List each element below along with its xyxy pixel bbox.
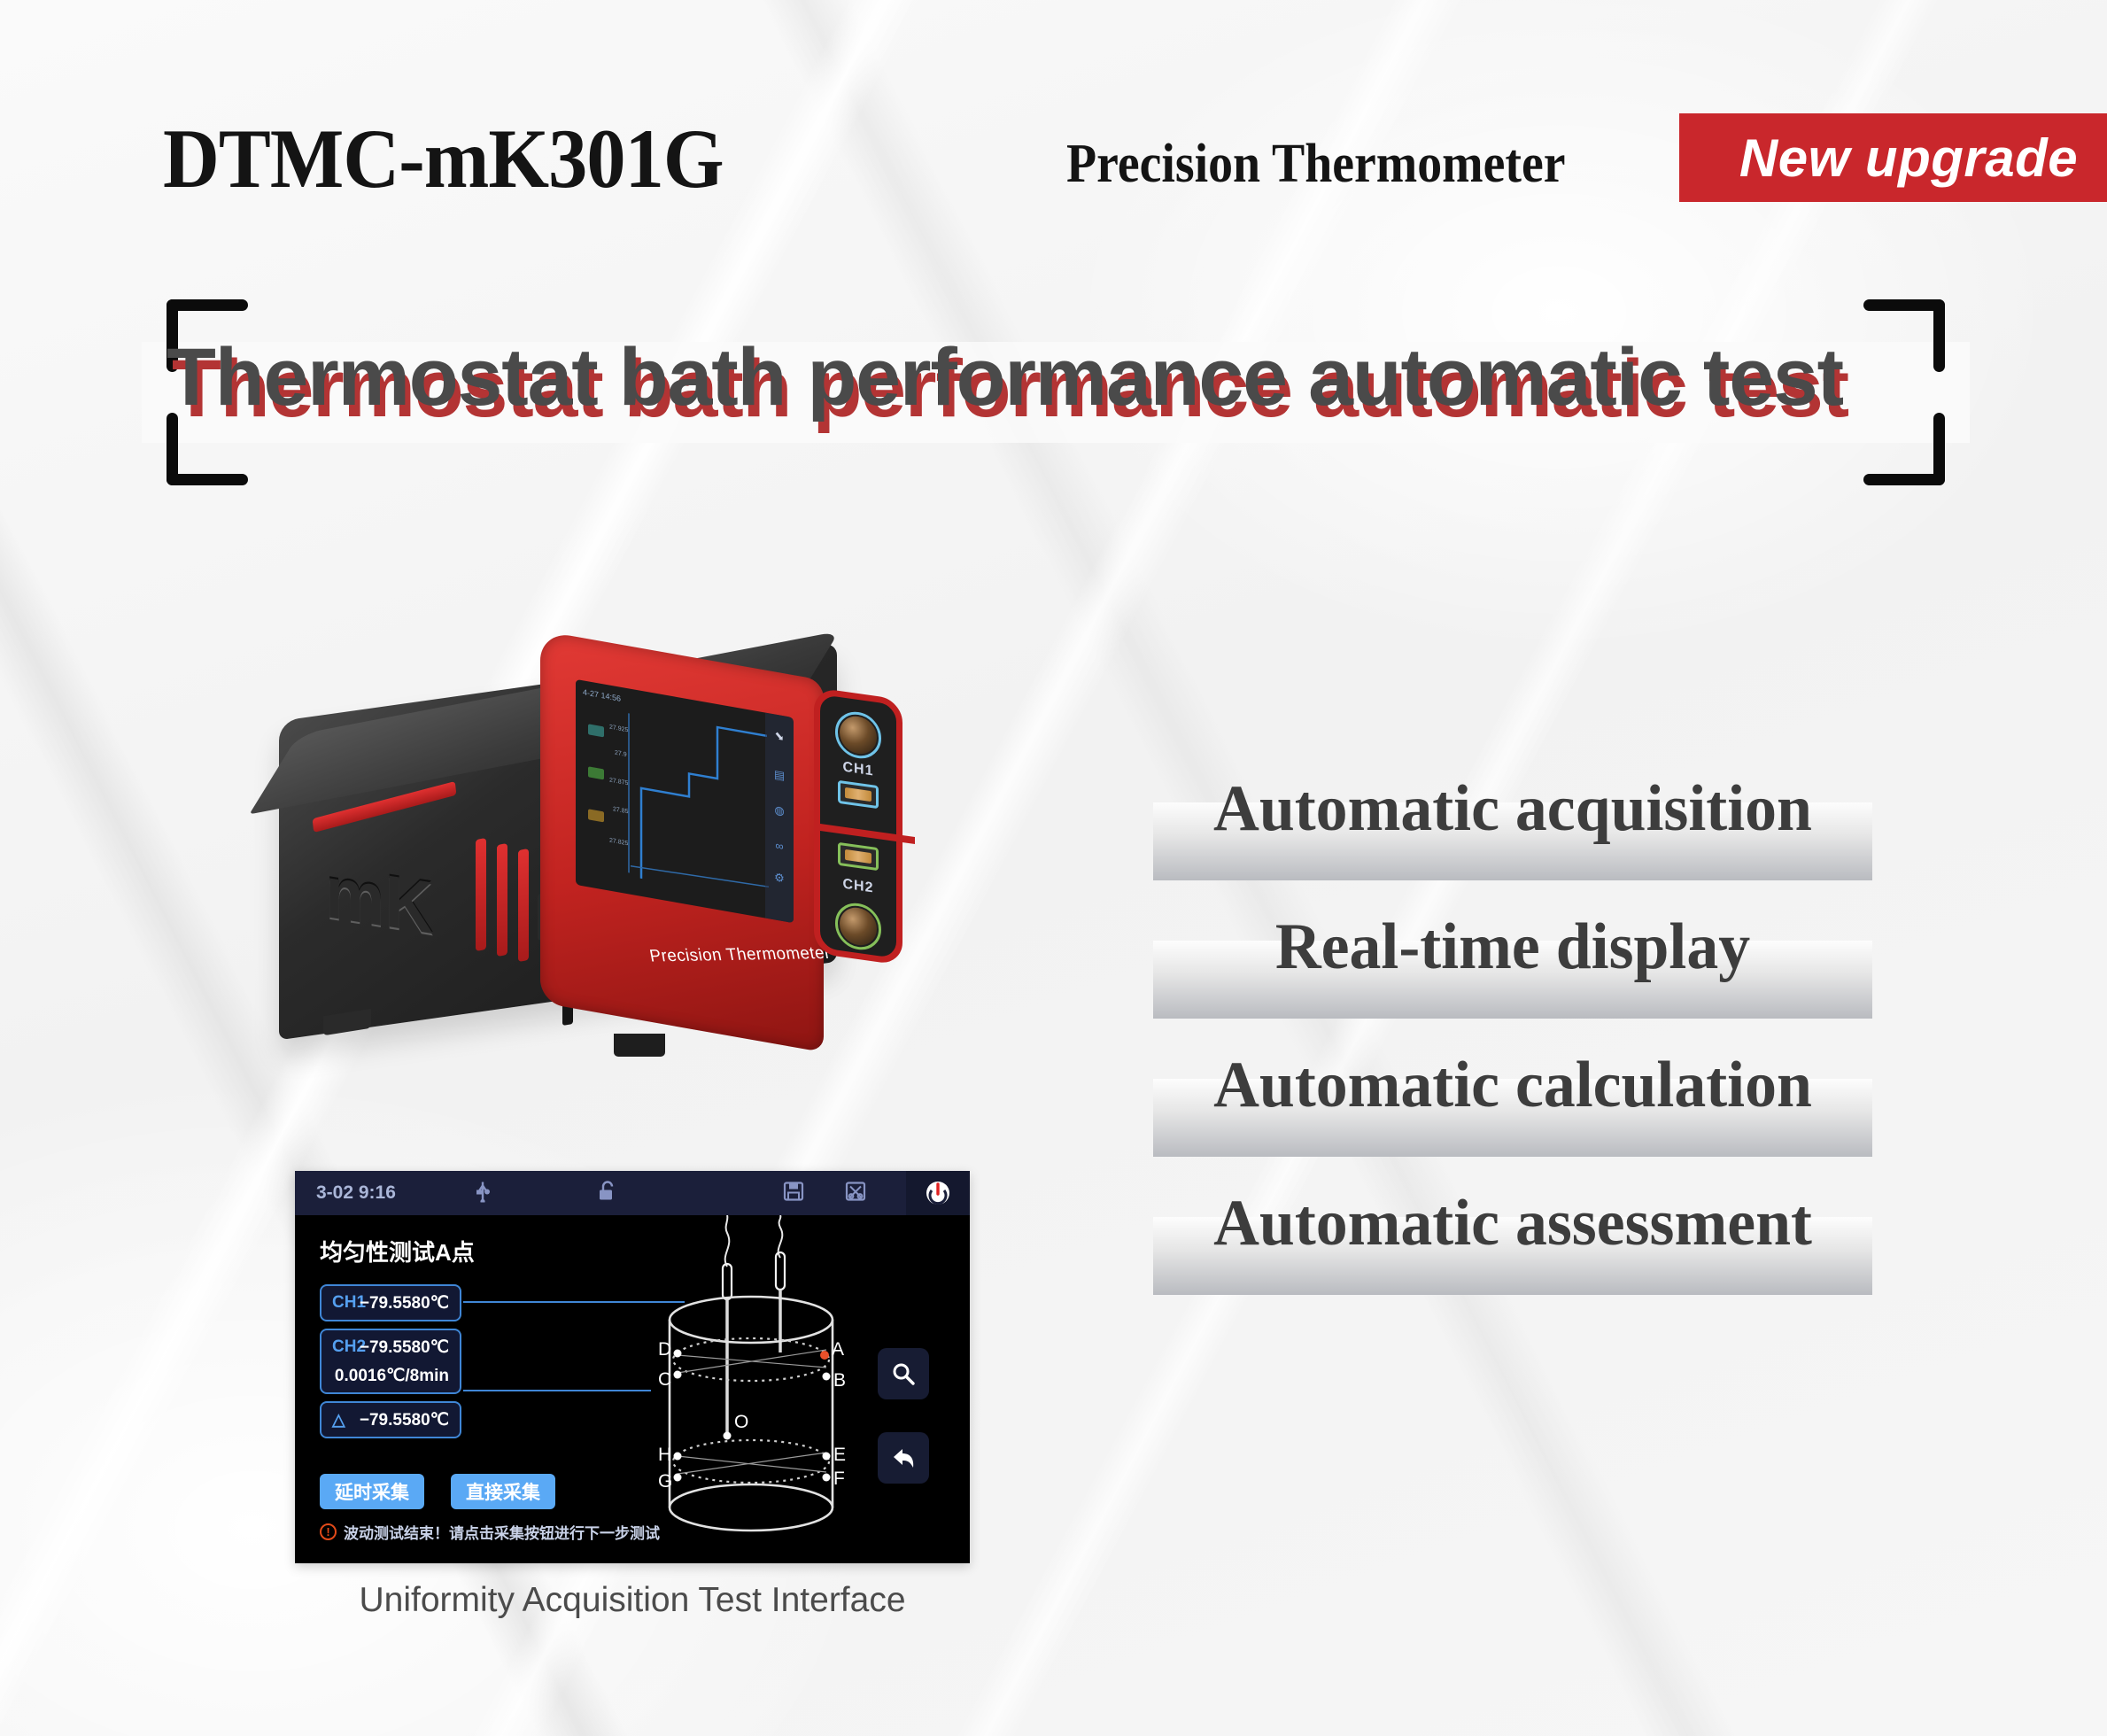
- power-button[interactable]: [906, 1171, 970, 1215]
- ui-screen-caption: Uniformity Acquisition Test Interface: [295, 1581, 970, 1620]
- back-arrow-icon: [890, 1445, 917, 1471]
- usb-icon[interactable]: [472, 1180, 493, 1207]
- readout-delta-label: △: [332, 1410, 345, 1430]
- svg-text:A: A: [832, 1339, 844, 1360]
- ch2-knob-port: [835, 900, 881, 952]
- device-display-table-icon: ▤: [772, 767, 786, 784]
- search-button[interactable]: [878, 1348, 929, 1399]
- ch2-port-label: CH2: [842, 877, 873, 897]
- device-display-link-icon: ∞: [772, 838, 786, 855]
- feature-label-display: Real-time display: [1164, 898, 1862, 996]
- ch1-knob-port: [835, 709, 881, 761]
- new-upgrade-badge-label: New upgrade: [1739, 128, 2078, 189]
- cut-icon[interactable]: [844, 1180, 867, 1207]
- subtitle-text: Thermostat bath performance automatic te…: [167, 335, 1945, 450]
- device-display-trend-chart: [576, 679, 794, 923]
- device-display-sidebar: ⬊ ▤ ◍ ∞ ⚙: [765, 713, 794, 924]
- screen-body: 均匀性测试A点 CH1 −79.5580℃ CH2 −79.5580℃ 0.00…: [295, 1215, 970, 1563]
- device-front-label: Precision Thermometer: [648, 944, 833, 967]
- feature-item: Automatic calculation: [1153, 1036, 1872, 1174]
- connector-line-ch2: [463, 1390, 651, 1391]
- device-product-photo: mK 4-27 14:56 27.925 27.9 27.875 27.85 2…: [270, 633, 1041, 1085]
- ch1-knob-icon: [840, 714, 877, 756]
- subtitle-banner: Thermostat bath performance automatic te…: [167, 299, 1945, 485]
- test-title: 均匀性测试A点: [320, 1235, 475, 1267]
- status-datetime: 3-02 9:16: [316, 1182, 396, 1204]
- warning-text: 波动测试结束！请点击采集按钮进行下一步测试: [344, 1521, 660, 1543]
- svg-text:O: O: [734, 1412, 748, 1432]
- warning-exclamation-icon: !: [320, 1523, 337, 1540]
- ch2-socket-port: [838, 842, 879, 871]
- device-vent-stripe-2: [497, 843, 507, 957]
- page-title-model: DTMC-mK301G: [163, 110, 724, 207]
- readout-ch2[interactable]: CH2 −79.5580℃ 0.0016℃/8min: [320, 1329, 461, 1394]
- readout-ch1-value: −79.5580℃: [360, 1293, 449, 1314]
- svg-text:H: H: [658, 1445, 671, 1465]
- readout-ch2-value: −79.5580℃: [360, 1337, 449, 1358]
- device-display-clock-icon: ◍: [772, 802, 786, 819]
- svg-text:G: G: [658, 1471, 672, 1492]
- ch2-knob-icon: [840, 905, 877, 948]
- search-icon: [890, 1360, 917, 1387]
- feature-item: Automatic assessment: [1153, 1174, 1872, 1313]
- device-vent-stripe-1: [476, 838, 486, 951]
- readout-delta[interactable]: △ −79.5580℃: [320, 1401, 461, 1438]
- page-title-product-type: Precision Thermometer: [1066, 133, 1566, 196]
- svg-text:B: B: [833, 1370, 846, 1391]
- unlock-icon[interactable]: [596, 1180, 617, 1207]
- status-bar: 3-02 9:16: [295, 1171, 970, 1215]
- readout-ch2-drift: 0.0016℃/8min: [335, 1366, 449, 1386]
- save-icon[interactable]: [782, 1180, 805, 1207]
- feature-label-acquisition: Automatic acquisition: [1164, 760, 1862, 857]
- diagram-point-a-active: [820, 1351, 829, 1360]
- feature-list: Automatic acquisition Real-time display …: [1153, 760, 1872, 1313]
- readout-delta-value: −79.5580℃: [360, 1410, 449, 1430]
- bath-cylinder-diagram: A B C D E F G H O: [631, 1215, 871, 1563]
- header: DTMC-mK301G Precision Thermometer New up…: [163, 117, 1987, 202]
- svg-text:E: E: [833, 1445, 846, 1465]
- device-brand-logo: mK: [325, 849, 433, 951]
- subtitle-dark-layer: Thermostat bath performance automatic te…: [167, 335, 1936, 421]
- svg-text:C: C: [658, 1369, 671, 1390]
- side-panel-divider: [814, 823, 915, 844]
- feature-item: Automatic acquisition: [1153, 760, 1872, 898]
- device-foot-right: [614, 1034, 665, 1057]
- new-upgrade-badge: New upgrade: [1679, 113, 2107, 202]
- feature-label-assessment: Automatic assessment: [1164, 1174, 1862, 1272]
- device-side-panel: CH1 CH2: [814, 687, 902, 965]
- delay-acquisition-button[interactable]: 延时采集: [320, 1474, 424, 1509]
- device-vent-stripe-3: [518, 849, 529, 962]
- device-display-chart-icon: ⬊: [772, 728, 786, 745]
- svg-text:D: D: [658, 1339, 671, 1360]
- device-display-settings-icon: ⚙: [772, 870, 786, 887]
- feature-label-calculation: Automatic calculation: [1164, 1036, 1862, 1134]
- warning-message: ! 波动测试结束！请点击采集按钮进行下一步测试: [320, 1521, 660, 1543]
- back-button[interactable]: [878, 1432, 929, 1484]
- readout-ch1[interactable]: CH1 −79.5580℃: [320, 1284, 461, 1321]
- device-display: 4-27 14:56 27.925 27.9 27.875 27.85 27.8…: [576, 679, 794, 923]
- device-front-bezel: 4-27 14:56 27.925 27.9 27.875 27.85 27.8…: [540, 631, 824, 1052]
- svg-text:F: F: [833, 1469, 845, 1489]
- feature-item: Real-time display: [1153, 898, 1872, 1036]
- ch1-port-label: CH1: [842, 760, 873, 780]
- direct-acquisition-button[interactable]: 直接采集: [451, 1474, 555, 1509]
- uniformity-test-screen: 3-02 9:16: [295, 1171, 970, 1563]
- ch1-socket-port: [838, 780, 879, 809]
